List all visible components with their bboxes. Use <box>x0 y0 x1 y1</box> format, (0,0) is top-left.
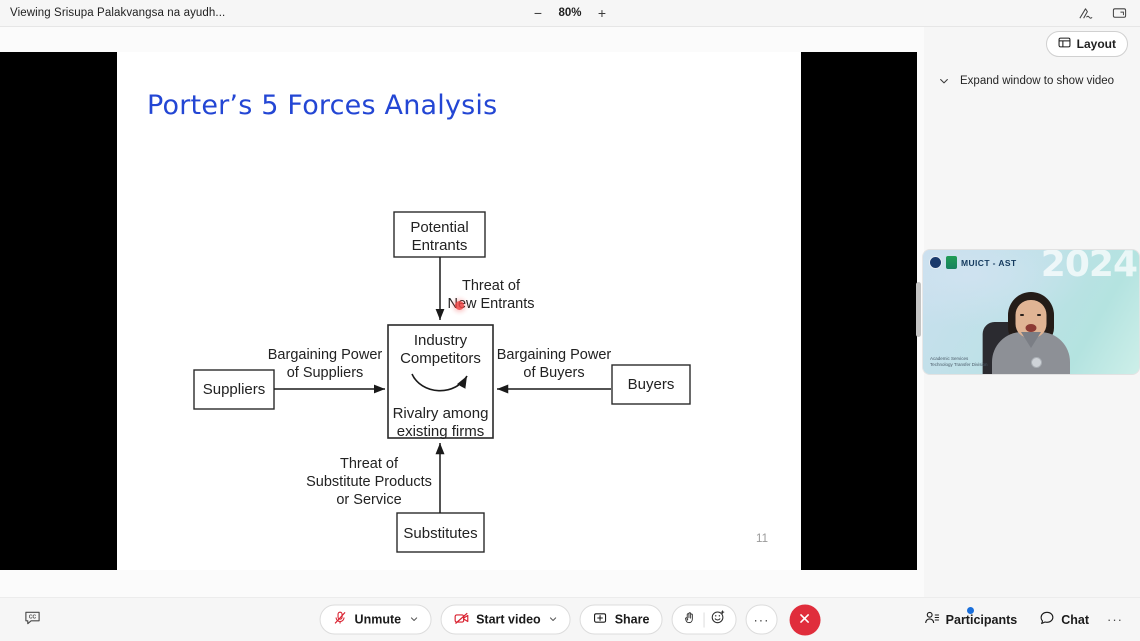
participants-notification-badge <box>967 607 974 614</box>
meeting-toolbar: CC Unmute <box>0 597 1140 641</box>
organization-logo-label: MUICT - AST <box>961 258 1017 268</box>
toolbar-right-cluster: Participants Chat ··· <box>915 605 1128 635</box>
chevron-down-icon <box>938 75 950 87</box>
share-screen-icon <box>593 611 608 629</box>
unmute-button-label: Unmute <box>355 613 402 627</box>
leave-meeting-button[interactable] <box>789 604 820 635</box>
top-bar: Viewing Srisupa Palakvangsa na ayudh... … <box>0 0 1140 27</box>
box-potential-entrants-line2: Entrants <box>412 237 468 254</box>
box-buyers: Buyers <box>628 376 675 393</box>
label-threat-new-entrants-line2: New Entrants <box>447 296 534 312</box>
divider <box>703 612 704 627</box>
shared-content-letterbox: Porter’s 5 Forces Analysis Potential Ent… <box>0 52 917 570</box>
chevron-down-icon[interactable] <box>409 614 418 625</box>
participants-button-label: Participants <box>946 613 1018 627</box>
annotate-icon[interactable] <box>1076 4 1094 22</box>
faculty-mark-icon <box>946 256 957 269</box>
organization-logo: MUICT - AST <box>929 256 1017 269</box>
participants-icon <box>924 610 940 629</box>
label-threat-substitutes-line1: Threat of <box>340 456 399 472</box>
expand-window-row[interactable]: Expand window to show video <box>930 67 1134 95</box>
top-bar-right-controls <box>1076 4 1128 22</box>
porters-five-forces-diagram: Potential Entrants Threat of New Entrant… <box>117 52 801 570</box>
box-industry-line2: Competitors <box>400 350 481 367</box>
chevron-down-icon[interactable] <box>549 614 558 625</box>
box-potential-entrants-line1: Potential <box>410 219 468 236</box>
eye-right <box>1037 314 1041 317</box>
screen-icon[interactable] <box>1110 4 1128 22</box>
mouth-shape <box>1026 324 1037 332</box>
box-rivalry-line2: existing firms <box>397 423 485 440</box>
zoom-meeting-window: Viewing Srisupa Palakvangsa na ayudh... … <box>0 0 1140 641</box>
box-rivalry-line1: Rivalry among <box>393 405 489 422</box>
year-watermark: 2024 <box>1041 250 1137 285</box>
slide-page-number: 11 <box>756 533 768 545</box>
label-bargaining-suppliers-line2: of Suppliers <box>287 365 364 381</box>
box-industry-line1: Industry <box>414 332 468 349</box>
participants-button[interactable]: Participants <box>915 605 1027 635</box>
eye-left <box>1020 314 1024 317</box>
closed-caption-icon: CC <box>24 609 41 631</box>
share-button-label: Share <box>615 613 650 627</box>
zoom-out-button[interactable]: − <box>530 5 546 21</box>
zoom-controls: − 80% + <box>530 5 610 21</box>
close-icon <box>798 611 812 628</box>
zoom-level-value: 80% <box>556 7 584 19</box>
expand-window-label: Expand window to show video <box>960 75 1114 87</box>
toolbar-right-more-button[interactable]: ··· <box>1102 606 1128 634</box>
label-threat-substitutes-line2: Substitute Products <box>306 474 432 490</box>
shirt-badge <box>1031 357 1042 368</box>
microphone-muted-icon <box>333 611 348 629</box>
stage-scrollbar-thumb[interactable] <box>916 282 921 337</box>
start-video-button[interactable]: Start video <box>440 605 571 635</box>
share-button[interactable]: Share <box>580 605 663 635</box>
label-bargaining-suppliers-line1: Bargaining Power <box>268 347 383 363</box>
closed-caption-button[interactable]: CC <box>18 607 46 633</box>
box-suppliers: Suppliers <box>203 381 266 398</box>
box-substitutes: Substitutes <box>403 525 477 542</box>
label-threat-substitutes-line3: or Service <box>336 492 401 508</box>
raise-hand-icon <box>682 610 696 629</box>
chat-button[interactable]: Chat <box>1030 605 1098 635</box>
reactions-group <box>671 605 736 635</box>
layout-button[interactable]: Layout <box>1046 31 1128 57</box>
label-bargaining-buyers-line2: of Buyers <box>523 365 584 381</box>
camera-off-icon <box>453 610 469 629</box>
chat-bubble-icon <box>1039 610 1055 629</box>
shared-screen-stage[interactable]: Porter’s 5 Forces Analysis Potential Ent… <box>0 27 924 597</box>
video-caption: Academic Services Technology Transfer Di… <box>930 356 988 370</box>
layout-icon <box>1058 36 1071 52</box>
viewing-title: Viewing Srisupa Palakvangsa na ayudh... <box>10 7 225 19</box>
zoom-in-button[interactable]: + <box>594 5 610 21</box>
svg-text:CC: CC <box>28 614 36 620</box>
raise-hand-button[interactable] <box>676 608 702 632</box>
university-seal-icon <box>929 256 942 269</box>
label-bargaining-buyers-line1: Bargaining Power <box>497 347 612 363</box>
label-threat-new-entrants-line1: Threat of <box>462 278 521 294</box>
emoji-reaction-icon <box>711 610 726 630</box>
chat-button-label: Chat <box>1061 613 1089 627</box>
presentation-slide: Porter’s 5 Forces Analysis Potential Ent… <box>117 52 801 570</box>
start-video-button-label: Start video <box>476 613 541 627</box>
unmute-button[interactable]: Unmute <box>320 605 432 635</box>
layout-button-label: Layout <box>1077 37 1116 51</box>
toolbar-center-cluster: Unmute Start video <box>320 604 821 635</box>
more-options-button[interactable]: ··· <box>745 605 777 635</box>
participant-video-tile[interactable]: 2024 MUICT - AST Academic Services Techn… <box>923 250 1139 374</box>
video-caption-line2: Technology Transfer Division <box>930 362 988 369</box>
video-caption-line1: Academic Services <box>930 356 988 363</box>
reactions-button[interactable] <box>705 608 731 632</box>
